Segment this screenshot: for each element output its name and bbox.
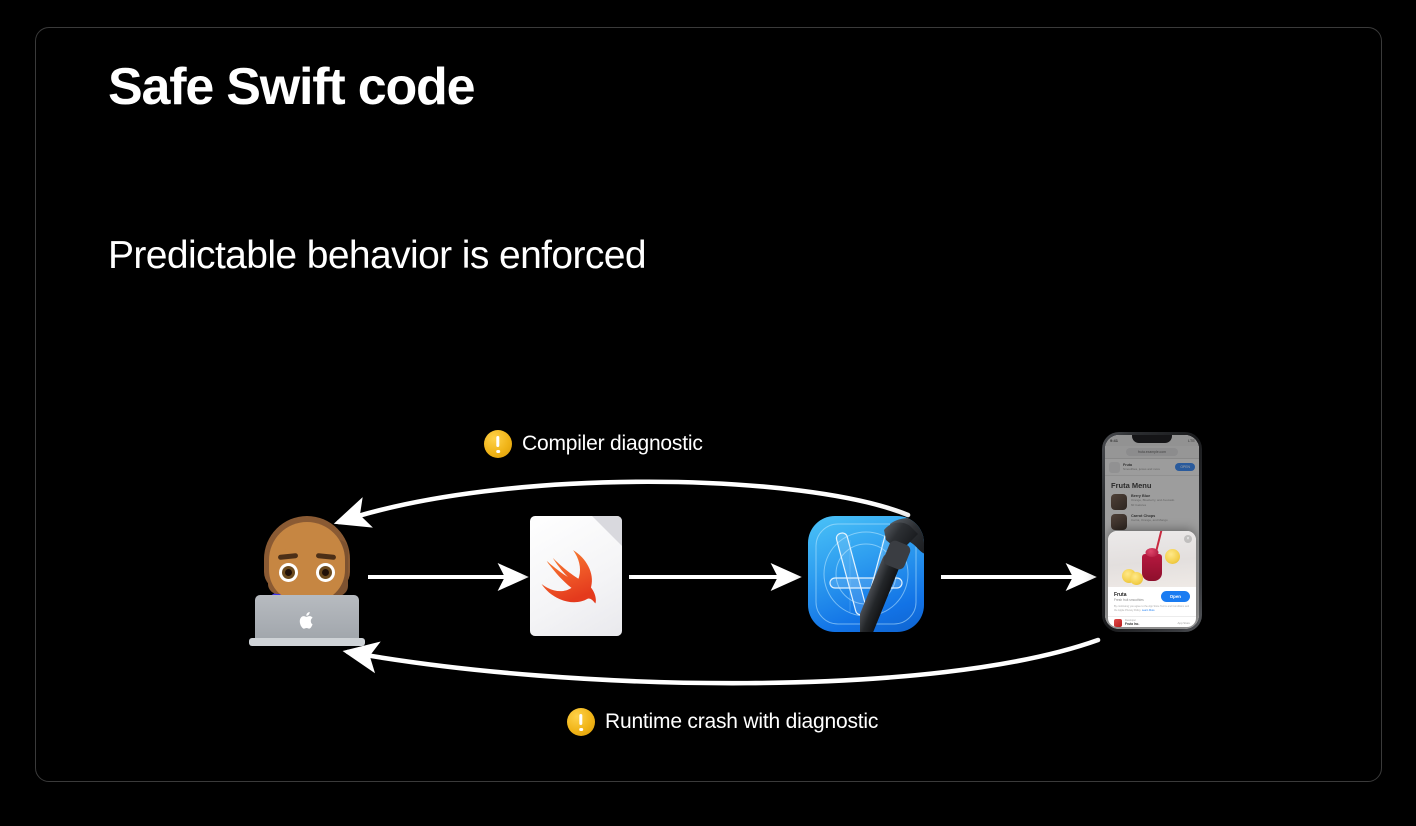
hammer-icon	[860, 516, 924, 632]
app-clip-subtitle: Fresh fruit smoothies	[1114, 598, 1157, 602]
iphone-device: 9:41 LTE fruta.example.com Fruta Smoothi…	[1102, 432, 1202, 632]
app-clip-footer: Developer Fruta Inc. App Store	[1108, 616, 1196, 627]
developer-eye-right	[316, 563, 335, 582]
diagram-arrows	[36, 28, 1382, 782]
app-clip-legal: By continuing you agree to the App Store…	[1108, 604, 1196, 615]
pipeline-diagram: Compiler diagnostic Runtime crash with d…	[36, 28, 1382, 782]
developer-icon	[249, 516, 365, 646]
developer-eyebrow-right	[316, 553, 336, 560]
app-clip-hero-image: ×	[1108, 531, 1196, 587]
iphone-screen: 9:41 LTE fruta.example.com Fruta Smoothi…	[1105, 435, 1199, 629]
lemon-slice	[1165, 549, 1180, 564]
label-compiler-diagnostic-text: Compiler diagnostic	[522, 432, 703, 456]
app-clip-header: Fruta Fresh fruit smoothies Open	[1108, 587, 1196, 604]
developer-eye-left	[279, 563, 298, 582]
developer-eyebrow-left	[278, 553, 298, 560]
swift-file-icon	[530, 516, 622, 636]
app-clip-titles: Fruta Fresh fruit smoothies	[1114, 592, 1157, 602]
apple-logo-icon	[299, 611, 316, 630]
presentation-slide: Safe Swift code Predictable behavior is …	[35, 27, 1382, 782]
xcode-icon	[803, 506, 934, 637]
lemon-slice	[1130, 572, 1143, 585]
smoothie-glass	[1142, 554, 1162, 581]
xcode-tile	[808, 516, 924, 632]
arrow-runtime-crash	[348, 640, 1098, 683]
close-icon[interactable]: ×	[1184, 535, 1192, 543]
warning-icon	[484, 430, 512, 458]
app-clip-open-button[interactable]: Open	[1161, 591, 1190, 602]
developer-name: Fruta Inc.	[1125, 622, 1139, 626]
warning-icon	[567, 708, 595, 736]
app-clip-card: × Fruta Fresh fruit smoothies	[1108, 531, 1196, 627]
swift-bird-icon	[541, 549, 611, 611]
app-store-label: App Store	[1178, 621, 1190, 625]
iphone-body: 9:41 LTE fruta.example.com Fruta Smoothi…	[1102, 432, 1202, 632]
app-clip-learn-more-link[interactable]: Learn More	[1142, 609, 1155, 612]
developer-info: Developer Fruta Inc.	[1125, 619, 1139, 626]
developer-app-icon	[1114, 619, 1122, 627]
laptop-base	[249, 638, 365, 646]
developer-face	[271, 546, 343, 598]
slide-canvas: Safe Swift code Predictable behavior is …	[0, 0, 1416, 826]
iphone-notch	[1132, 435, 1172, 443]
label-runtime-crash-text: Runtime crash with diagnostic	[605, 710, 878, 734]
label-runtime-crash: Runtime crash with diagnostic	[567, 708, 878, 736]
label-compiler-diagnostic: Compiler diagnostic	[484, 430, 703, 458]
